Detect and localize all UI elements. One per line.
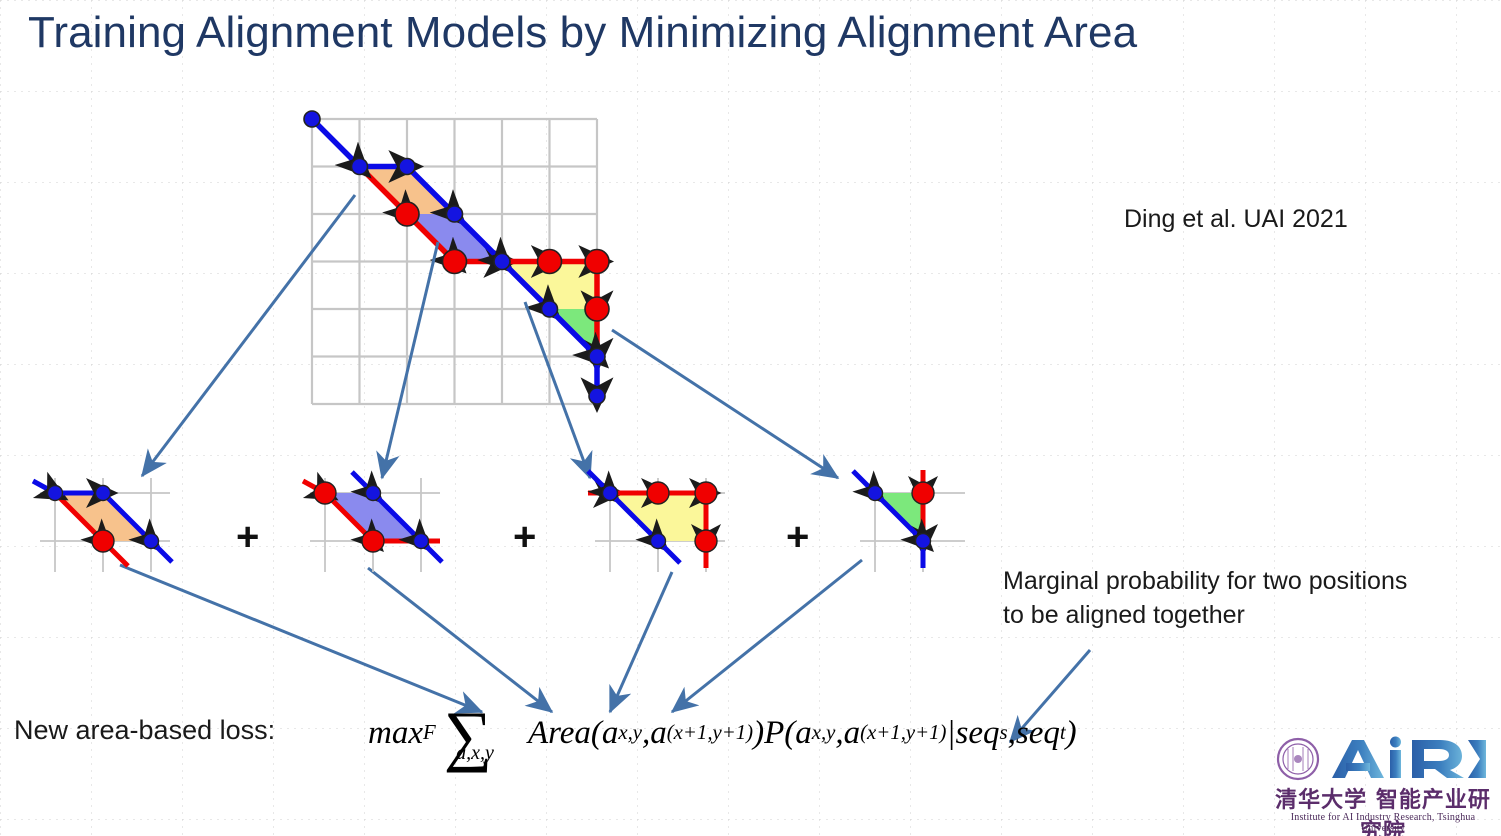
node-blue bbox=[589, 349, 605, 365]
node-blue bbox=[603, 486, 618, 501]
formula-p-close: ) bbox=[1066, 715, 1077, 752]
formula-comma-3: , bbox=[1008, 715, 1016, 752]
node-red bbox=[695, 482, 717, 504]
formula-seq-t: seq bbox=[1016, 715, 1060, 752]
formula-a2: a bbox=[650, 715, 667, 752]
air-english-name: Institute for AI Industry Research, Tsin… bbox=[1272, 812, 1494, 834]
node-red bbox=[695, 530, 717, 552]
node-blue bbox=[542, 301, 558, 317]
formula-a3-sub: x,y bbox=[812, 721, 836, 745]
node-red bbox=[314, 482, 336, 504]
tsinghua-seal-icon bbox=[1278, 739, 1318, 779]
node-red bbox=[395, 202, 419, 226]
sub-diagram-yellow bbox=[588, 471, 725, 572]
node-red bbox=[92, 530, 114, 552]
formula-comma-1: , bbox=[642, 715, 650, 752]
formula-seq-s: seq bbox=[956, 715, 1000, 752]
arrow-sub1-to-formula bbox=[120, 565, 482, 712]
plus-sign-2: + bbox=[513, 515, 536, 560]
summation-subscript: a,x,y bbox=[456, 742, 494, 765]
node-blue bbox=[868, 486, 883, 501]
arrow-to-sub-2 bbox=[382, 242, 438, 478]
node-red bbox=[912, 482, 934, 504]
formula-a1-sub: x,y bbox=[618, 721, 642, 745]
decomposition-arrows bbox=[142, 195, 838, 478]
air-logo: 清华大学 智能产业研究院 Institute for AI Industry R… bbox=[1272, 736, 1494, 828]
formula-a4: a bbox=[844, 715, 861, 752]
node-blue bbox=[96, 486, 111, 501]
node-blue bbox=[414, 534, 429, 549]
plus-sign-1: + bbox=[236, 515, 259, 560]
sub-diagram-orange bbox=[33, 478, 172, 572]
arrow-to-sub-4 bbox=[612, 330, 838, 478]
node-red bbox=[443, 250, 467, 274]
formula-conditional-bar: | bbox=[946, 715, 955, 752]
node-red bbox=[647, 482, 669, 504]
node-blue bbox=[589, 388, 605, 404]
formula-a2-sub: (x+1,y+1) bbox=[667, 721, 753, 745]
arrow-sub3-to-formula bbox=[610, 572, 672, 712]
arrow-sub2-to-formula bbox=[368, 568, 552, 712]
formula-area-open: Area( bbox=[528, 715, 602, 752]
node-blue bbox=[304, 111, 320, 127]
formula-a3: a bbox=[795, 715, 812, 752]
node-blue bbox=[352, 159, 368, 175]
sub-diagram-green bbox=[853, 470, 965, 572]
formula-close-paren: ) bbox=[753, 715, 764, 752]
node-blue bbox=[651, 534, 666, 549]
formula-a1: a bbox=[602, 715, 619, 752]
formula-max: max bbox=[368, 715, 423, 752]
air-wordmark-icon bbox=[1272, 736, 1494, 782]
formula-max-sub: F bbox=[423, 721, 436, 745]
node-blue bbox=[48, 486, 63, 501]
slide-canvas: Training Alignment Models by Minimizing … bbox=[0, 0, 1501, 836]
node-blue bbox=[494, 254, 510, 270]
node-red bbox=[585, 250, 609, 274]
arrow-to-sub-1 bbox=[142, 195, 355, 476]
plus-sign-3: + bbox=[786, 515, 809, 560]
node-blue bbox=[447, 206, 463, 222]
node-red bbox=[538, 250, 562, 274]
node-blue bbox=[144, 534, 159, 549]
node-blue bbox=[399, 159, 415, 175]
loss-formula: maxF ∑ a,x,y Area(ax,y, a(x+1,y+1))P(ax,… bbox=[368, 706, 1077, 760]
node-red bbox=[362, 530, 384, 552]
arrow-sub4-to-formula bbox=[672, 560, 862, 712]
formula-comma-2: , bbox=[835, 715, 843, 752]
node-blue bbox=[916, 534, 931, 549]
node-red bbox=[585, 297, 609, 321]
sub-diagram-purple bbox=[303, 472, 442, 572]
formula-p-open: P( bbox=[764, 715, 795, 752]
formula-a4-sub: (x+1,y+1) bbox=[860, 721, 946, 745]
node-blue bbox=[366, 486, 381, 501]
air-letters bbox=[1332, 737, 1486, 779]
formula-seq-s-sub: s bbox=[1000, 721, 1008, 745]
